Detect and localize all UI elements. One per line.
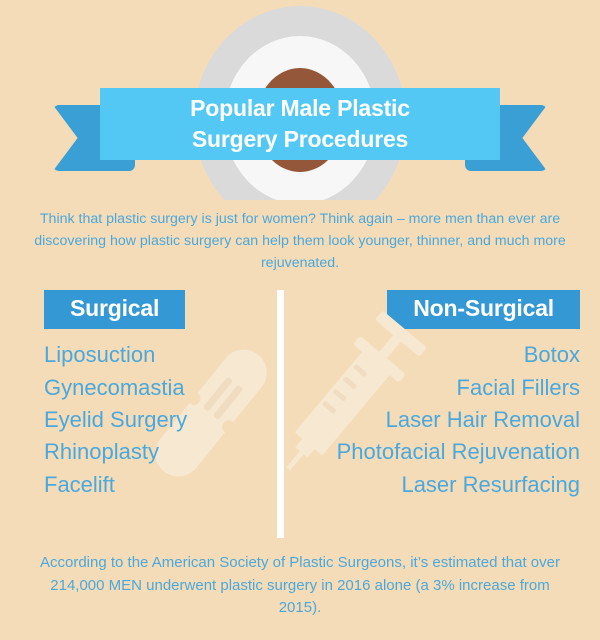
non-surgical-column: Non-Surgical Botox Facial Fillers Laser … <box>320 290 582 501</box>
title-ribbon: Popular Male Plastic Surgery Procedures <box>100 88 500 160</box>
list-item: Laser Hair Removal <box>320 404 580 436</box>
surgical-column: Surgical Liposuction Gynecomastia Eyelid… <box>18 290 280 501</box>
list-item: Facelift <box>44 469 280 501</box>
surgical-heading: Surgical <box>44 290 185 329</box>
non-surgical-heading: Non-Surgical <box>387 290 580 329</box>
surgical-procedure-list: Liposuction Gynecomastia Eyelid Surgery … <box>18 339 280 501</box>
non-surgical-procedure-list: Botox Facial Fillers Laser Hair Removal … <box>320 339 582 501</box>
list-item: Laser Resurfacing <box>320 469 580 501</box>
hero-header: Popular Male Plastic Surgery Procedures <box>0 0 600 200</box>
list-item: Rhinoplasty <box>44 436 280 468</box>
list-item: Botox <box>320 339 580 371</box>
intro-paragraph: Think that plastic surgery is just for w… <box>0 208 600 274</box>
list-item: Facial Fillers <box>320 372 580 404</box>
list-item: Liposuction <box>44 339 280 371</box>
footer-statistic: According to the American Society of Pla… <box>0 552 600 620</box>
list-item: Photofacial Rejuvenation <box>320 436 580 468</box>
page-title-line-1: Popular Male Plastic <box>190 93 410 124</box>
page-title-line-2: Surgery Procedures <box>192 124 408 155</box>
list-item: Eyelid Surgery <box>44 404 280 436</box>
list-item: Gynecomastia <box>44 372 280 404</box>
procedure-columns: Surgical Liposuction Gynecomastia Eyelid… <box>0 290 600 540</box>
